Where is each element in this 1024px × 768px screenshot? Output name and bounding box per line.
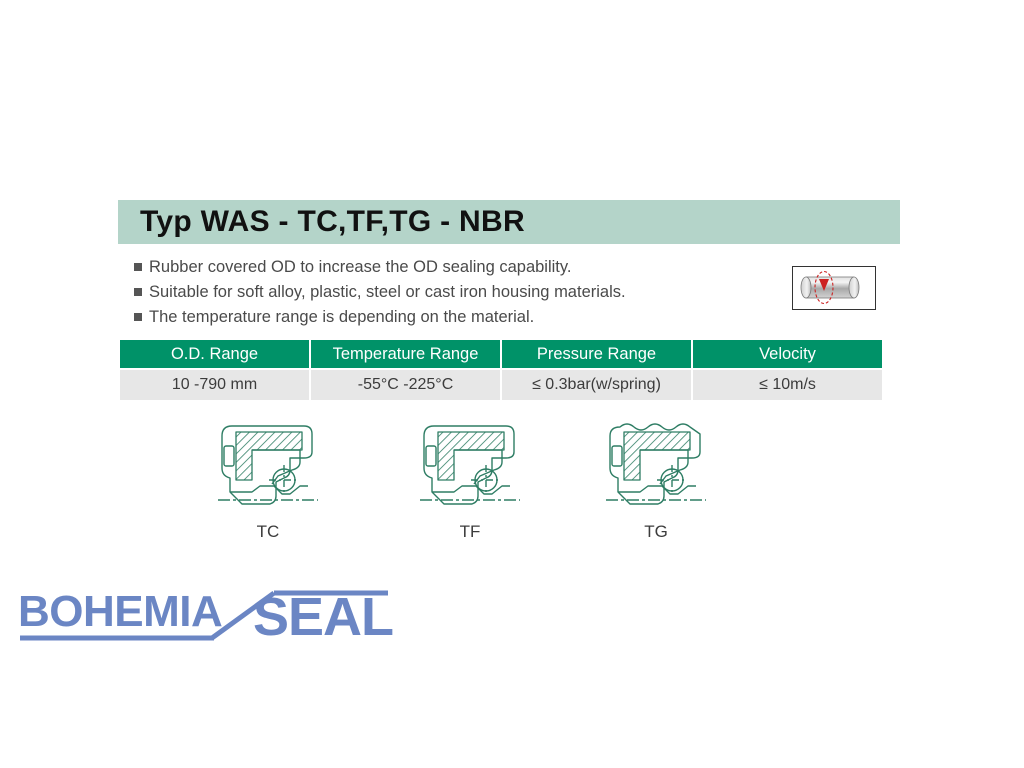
table-header-row: O.D. Range Temperature Range Pressure Ra… — [120, 340, 882, 368]
feature-text: Rubber covered OD to increase the OD sea… — [149, 256, 572, 278]
column-header-temperature-range: Temperature Range — [311, 340, 500, 368]
page-title: Typ WAS - TC,TF,TG - NBR — [140, 205, 525, 239]
seal-cross-section-tf-icon — [414, 418, 526, 518]
bullet-square-icon — [134, 263, 142, 271]
cell-pressure-range: ≤ 0.3bar(w/spring) — [502, 368, 691, 400]
cell-velocity: ≤ 10m/s — [693, 368, 882, 400]
column-header-od-range: O.D. Range — [120, 340, 309, 368]
seal-label-tg: TG — [596, 522, 716, 542]
list-item: Suitable for soft alloy, plastic, steel … — [134, 281, 734, 303]
column-header-pressure-range: Pressure Range — [502, 340, 691, 368]
cell-temperature-range: -55°C -225°C — [311, 368, 500, 400]
cell-od-range: 10 -790 mm — [120, 368, 309, 400]
spec-table: O.D. Range Temperature Range Pressure Ra… — [118, 340, 876, 400]
seal-diagram-tf: TF — [410, 418, 530, 542]
seal-diagram-tc: TC — [208, 418, 328, 542]
feature-list: Rubber covered OD to increase the OD sea… — [134, 256, 734, 331]
feature-text: The temperature range is depending on th… — [149, 306, 534, 328]
table-row: 10 -790 mm -55°C -225°C ≤ 0.3bar(w/sprin… — [120, 368, 882, 400]
seal-label-tf: TF — [410, 522, 530, 542]
seal-label-tc: TC — [208, 522, 328, 542]
title-band: Typ WAS - TC,TF,TG - NBR — [118, 200, 900, 244]
bullet-square-icon — [134, 313, 142, 321]
seal-cross-section-tc-icon — [212, 418, 324, 518]
shaft-icon-box — [792, 266, 876, 310]
seal-diagram-row: TC TF — [118, 418, 900, 553]
feature-text: Suitable for soft alloy, plastic, steel … — [149, 281, 626, 303]
rotating-shaft-icon — [793, 267, 874, 308]
seal-diagram-tg: TG — [596, 418, 716, 542]
seal-cross-section-tg-icon — [600, 418, 712, 518]
list-item: The temperature range is depending on th… — [134, 306, 734, 328]
logo-text-bohemia: BOHEMIA — [18, 587, 222, 636]
logo-graphic: BOHEMIA SEAL — [16, 580, 416, 650]
column-header-velocity: Velocity — [693, 340, 882, 368]
bohemia-seal-logo: BOHEMIA SEAL — [16, 580, 416, 650]
list-item: Rubber covered OD to increase the OD sea… — [134, 256, 734, 278]
bullet-square-icon — [134, 288, 142, 296]
